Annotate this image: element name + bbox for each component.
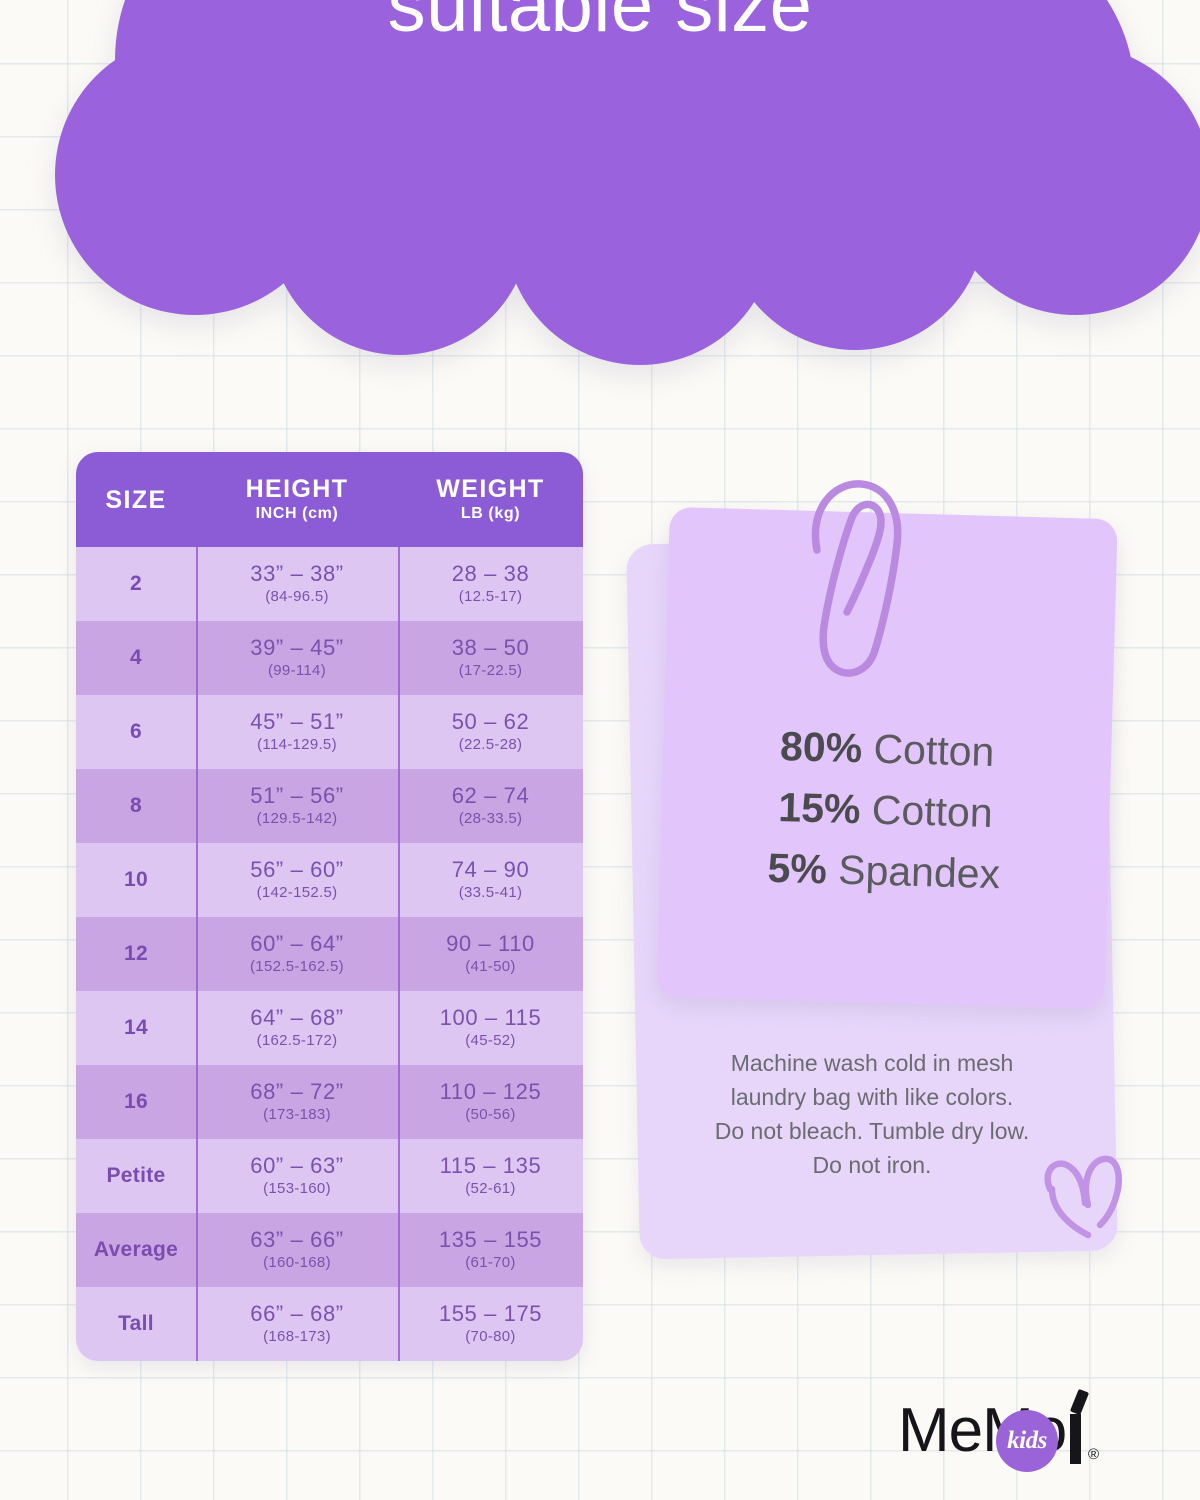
column-divider — [398, 769, 400, 843]
cell-height: 66” – 68”(168-173) — [196, 1287, 398, 1361]
height-inch: 56” – 60” — [250, 857, 343, 883]
size-label: Petite — [107, 1164, 166, 1188]
size-label: 12 — [124, 942, 148, 966]
size-label: 10 — [124, 868, 148, 892]
column-header-height: HEIGHT INCH (cm) — [196, 452, 398, 547]
height-inch: 60” – 63” — [250, 1153, 343, 1179]
column-divider — [196, 1213, 198, 1287]
logo-i-accent — [1070, 1389, 1089, 1415]
brand-logo: MeMo kids ® — [898, 1392, 1160, 1470]
weight-kg: (61-70) — [465, 1253, 515, 1273]
table-row: 1668” – 72”(173-183)110 – 125(50-56) — [76, 1065, 583, 1139]
size-label: Average — [94, 1238, 178, 1262]
weight-lb: 38 – 50 — [452, 635, 530, 661]
height-inch: 33” – 38” — [250, 561, 343, 587]
logo-i-stem — [1070, 1414, 1081, 1464]
fabric-line: 5% Spandex — [767, 837, 1001, 904]
care-line-3: Do not bleach. Tumble dry low. — [650, 1114, 1094, 1148]
height-cm: (142-152.5) — [257, 883, 338, 903]
table-row: 1260” – 64”(152.5-162.5)90 – 110(41-50) — [76, 917, 583, 991]
size-label: 16 — [124, 1090, 148, 1114]
height-inch: 60” – 64” — [250, 931, 343, 957]
cell-size: Tall — [76, 1287, 196, 1361]
weight-lb: 62 – 74 — [452, 783, 530, 809]
weight-lb: 110 – 125 — [440, 1079, 542, 1105]
cell-size: 8 — [76, 769, 196, 843]
column-divider — [398, 1287, 400, 1361]
column-divider — [196, 843, 198, 917]
fabric-percent: 5% — [767, 844, 828, 892]
table-row: 439” – 45”(99-114)38 – 50(17-22.5) — [76, 621, 583, 695]
column-header-size-main: SIZE — [105, 486, 166, 514]
table-header-row: SIZE HEIGHT INCH (cm) WEIGHT LB (kg) — [76, 452, 583, 547]
column-divider — [196, 917, 198, 991]
fabric-line: 80% Cotton — [779, 716, 995, 783]
column-divider — [196, 547, 198, 621]
height-inch: 63” – 66” — [250, 1227, 343, 1253]
care-line-1: Machine wash cold in mesh — [650, 1046, 1094, 1080]
size-label: 4 — [130, 646, 142, 670]
cell-weight: 110 – 125(50-56) — [398, 1065, 583, 1139]
weight-lb: 100 – 115 — [440, 1005, 542, 1031]
column-divider — [398, 843, 400, 917]
height-inch: 64” – 68” — [250, 1005, 343, 1031]
height-cm: (129.5-142) — [257, 809, 338, 829]
weight-kg: (45-52) — [465, 1031, 515, 1051]
column-header-weight-main: WEIGHT — [436, 475, 544, 503]
table-row: 851” – 56”(129.5-142)62 – 74(28-33.5) — [76, 769, 583, 843]
table-row: Average63” – 66”(160-168)135 – 155(61-70… — [76, 1213, 583, 1287]
column-divider — [398, 547, 400, 621]
column-divider — [196, 695, 198, 769]
height-cm: (160-168) — [263, 1253, 331, 1273]
heart-doodle-icon — [1030, 1145, 1140, 1250]
page-title: Find your suitable size — [0, 0, 1200, 52]
cell-size: Petite — [76, 1139, 196, 1213]
cell-weight: 74 – 90(33.5-41) — [398, 843, 583, 917]
cell-size: 2 — [76, 547, 196, 621]
column-divider — [398, 1213, 400, 1287]
size-label: 14 — [124, 1016, 148, 1040]
weight-kg: (50-56) — [465, 1105, 515, 1125]
fabric-material: Cotton — [871, 786, 993, 835]
care-instructions: Machine wash cold in mesh laundry bag wi… — [650, 1046, 1094, 1182]
fabric-material: Cotton — [873, 725, 995, 774]
paperclip-icon — [795, 472, 915, 687]
table-row: 645” – 51”(114-129.5)50 – 62(22.5-28) — [76, 695, 583, 769]
weight-lb: 50 – 62 — [452, 709, 530, 735]
care-line-4: Do not iron. — [650, 1148, 1094, 1182]
kids-badge: kids — [996, 1410, 1058, 1472]
cell-height: 60” – 64”(152.5-162.5) — [196, 917, 398, 991]
cell-weight: 28 – 38(12.5-17) — [398, 547, 583, 621]
cell-size: 10 — [76, 843, 196, 917]
height-inch: 51” – 56” — [250, 783, 343, 809]
column-divider — [398, 1065, 400, 1139]
column-header-weight-sub: LB (kg) — [461, 503, 520, 525]
cloud-shape — [55, 0, 1200, 365]
height-cm: (153-160) — [263, 1179, 331, 1199]
weight-lb: 135 – 155 — [439, 1227, 542, 1253]
column-divider — [398, 1139, 400, 1213]
column-header-height-sub: INCH (cm) — [256, 503, 339, 525]
height-cm: (99-114) — [268, 661, 326, 681]
cell-weight: 50 – 62(22.5-28) — [398, 695, 583, 769]
weight-lb: 115 – 135 — [440, 1153, 542, 1179]
weight-lb: 28 – 38 — [452, 561, 530, 587]
cell-size: 12 — [76, 917, 196, 991]
fabric-percent: 15% — [778, 783, 861, 831]
size-label: 2 — [130, 572, 142, 596]
table-row: Tall66” – 68”(168-173)155 – 175(70-80) — [76, 1287, 583, 1361]
fabric-material: Spandex — [838, 846, 1001, 897]
height-inch: 45” – 51” — [250, 709, 343, 735]
weight-kg: (22.5-28) — [459, 735, 523, 755]
cell-size: 16 — [76, 1065, 196, 1139]
column-header-weight: WEIGHT LB (kg) — [398, 452, 583, 547]
column-divider — [196, 1065, 198, 1139]
column-divider — [196, 1287, 198, 1361]
weight-lb: 155 – 175 — [439, 1301, 542, 1327]
weight-kg: (33.5-41) — [459, 883, 523, 903]
weight-kg: (17-22.5) — [459, 661, 523, 681]
weight-kg: (52-61) — [465, 1179, 515, 1199]
table-row: 1056” – 60”(142-152.5)74 – 90(33.5-41) — [76, 843, 583, 917]
cell-height: 60” – 63”(153-160) — [196, 1139, 398, 1213]
height-cm: (114-129.5) — [257, 735, 337, 755]
size-label: Tall — [118, 1312, 154, 1336]
column-divider — [196, 1139, 198, 1213]
fabric-percent: 80% — [780, 723, 863, 771]
column-divider — [398, 621, 400, 695]
registered-trademark-icon: ® — [1088, 1446, 1099, 1463]
height-cm: (152.5-162.5) — [250, 957, 344, 977]
cell-weight: 155 – 175(70-80) — [398, 1287, 583, 1361]
cell-size: Average — [76, 1213, 196, 1287]
cell-height: 51” – 56”(129.5-142) — [196, 769, 398, 843]
cell-weight: 115 – 135(52-61) — [398, 1139, 583, 1213]
weight-kg: (70-80) — [465, 1327, 515, 1347]
weight-kg: (28-33.5) — [459, 809, 523, 829]
cell-weight: 38 – 50(17-22.5) — [398, 621, 583, 695]
weight-kg: (41-50) — [465, 957, 515, 977]
table-row: Petite60” – 63”(153-160)115 – 135(52-61) — [76, 1139, 583, 1213]
column-divider — [196, 991, 198, 1065]
cell-weight: 90 – 110(41-50) — [398, 917, 583, 991]
column-divider — [196, 769, 198, 843]
cell-weight: 100 – 115(45-52) — [398, 991, 583, 1065]
height-cm: (168-173) — [263, 1327, 331, 1347]
cell-height: 63” – 66”(160-168) — [196, 1213, 398, 1287]
cell-weight: 62 – 74(28-33.5) — [398, 769, 583, 843]
table-row: 1464” – 68”(162.5-172)100 – 115(45-52) — [76, 991, 583, 1065]
height-cm: (162.5-172) — [257, 1031, 338, 1051]
cell-height: 64” – 68”(162.5-172) — [196, 991, 398, 1065]
column-header-height-main: HEIGHT — [246, 475, 349, 503]
cell-size: 14 — [76, 991, 196, 1065]
height-inch: 68” – 72” — [250, 1079, 343, 1105]
weight-kg: (12.5-17) — [459, 587, 523, 607]
size-chart-table: SIZE HEIGHT INCH (cm) WEIGHT LB (kg) 233… — [76, 452, 583, 1361]
fabric-line: 15% Cotton — [778, 777, 994, 844]
cell-weight: 135 – 155(61-70) — [398, 1213, 583, 1287]
title-line-2: suitable size — [0, 0, 1200, 52]
cell-height: 68” – 72”(173-183) — [196, 1065, 398, 1139]
care-line-2: laundry bag with like colors. — [650, 1080, 1094, 1114]
height-inch: 66” – 68” — [250, 1301, 343, 1327]
column-divider — [398, 917, 400, 991]
cell-size: 4 — [76, 621, 196, 695]
column-header-size: SIZE — [76, 452, 196, 547]
column-divider — [398, 695, 400, 769]
size-label: 8 — [130, 794, 142, 818]
cell-height: 33” – 38”(84-96.5) — [196, 547, 398, 621]
column-divider — [398, 991, 400, 1065]
weight-lb: 74 – 90 — [452, 857, 530, 883]
table-row: 233” – 38”(84-96.5)28 – 38(12.5-17) — [76, 547, 583, 621]
height-inch: 39” – 45” — [250, 635, 343, 661]
cell-height: 45” – 51”(114-129.5) — [196, 695, 398, 769]
header-cloud: Find your suitable size — [0, 0, 1200, 390]
cell-size: 6 — [76, 695, 196, 769]
height-cm: (173-183) — [263, 1105, 331, 1125]
column-divider — [196, 621, 198, 695]
weight-lb: 90 – 110 — [446, 931, 535, 957]
cell-height: 39” – 45”(99-114) — [196, 621, 398, 695]
height-cm: (84-96.5) — [265, 587, 329, 607]
cell-height: 56” – 60”(142-152.5) — [196, 843, 398, 917]
size-label: 6 — [130, 720, 142, 744]
